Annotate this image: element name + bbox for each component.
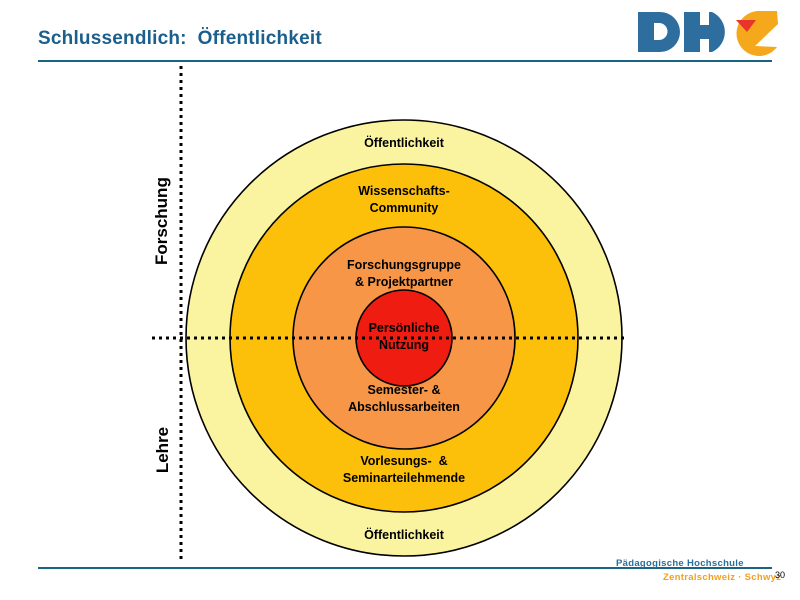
label-oeffentlichkeit-top: Öffentlichkeit	[364, 135, 444, 152]
slide-canvas: Schlussendlich: Öffentlichkeit Öffentlic…	[0, 0, 800, 600]
footer-institution-region: Zentralschweiz · Schwyz	[663, 572, 781, 583]
label-oeffentlichkeit-bottom: Öffentlichkeit	[364, 527, 444, 544]
label-vorlesungs-seminar: Vorlesungs- & Seminarteilehmende	[343, 453, 465, 487]
axis-label-lehre: Lehre	[153, 420, 173, 480]
label-forschungsgruppe: Forschungsgruppe & Projektpartner	[347, 257, 461, 291]
label-wissenschafts-community: Wissenschafts- Community	[358, 183, 450, 217]
label-persoenliche-nutzung: Persönliche Nutzung	[369, 320, 440, 354]
footer-institution-name: Pädagogische Hochschule	[616, 558, 744, 569]
label-semester-abschluss: Semester- & Abschlussarbeiten	[348, 382, 460, 416]
axis-label-forschung: Forschung	[152, 205, 172, 265]
page-number: 30	[775, 570, 785, 580]
concentric-circle-diagram	[0, 0, 800, 600]
